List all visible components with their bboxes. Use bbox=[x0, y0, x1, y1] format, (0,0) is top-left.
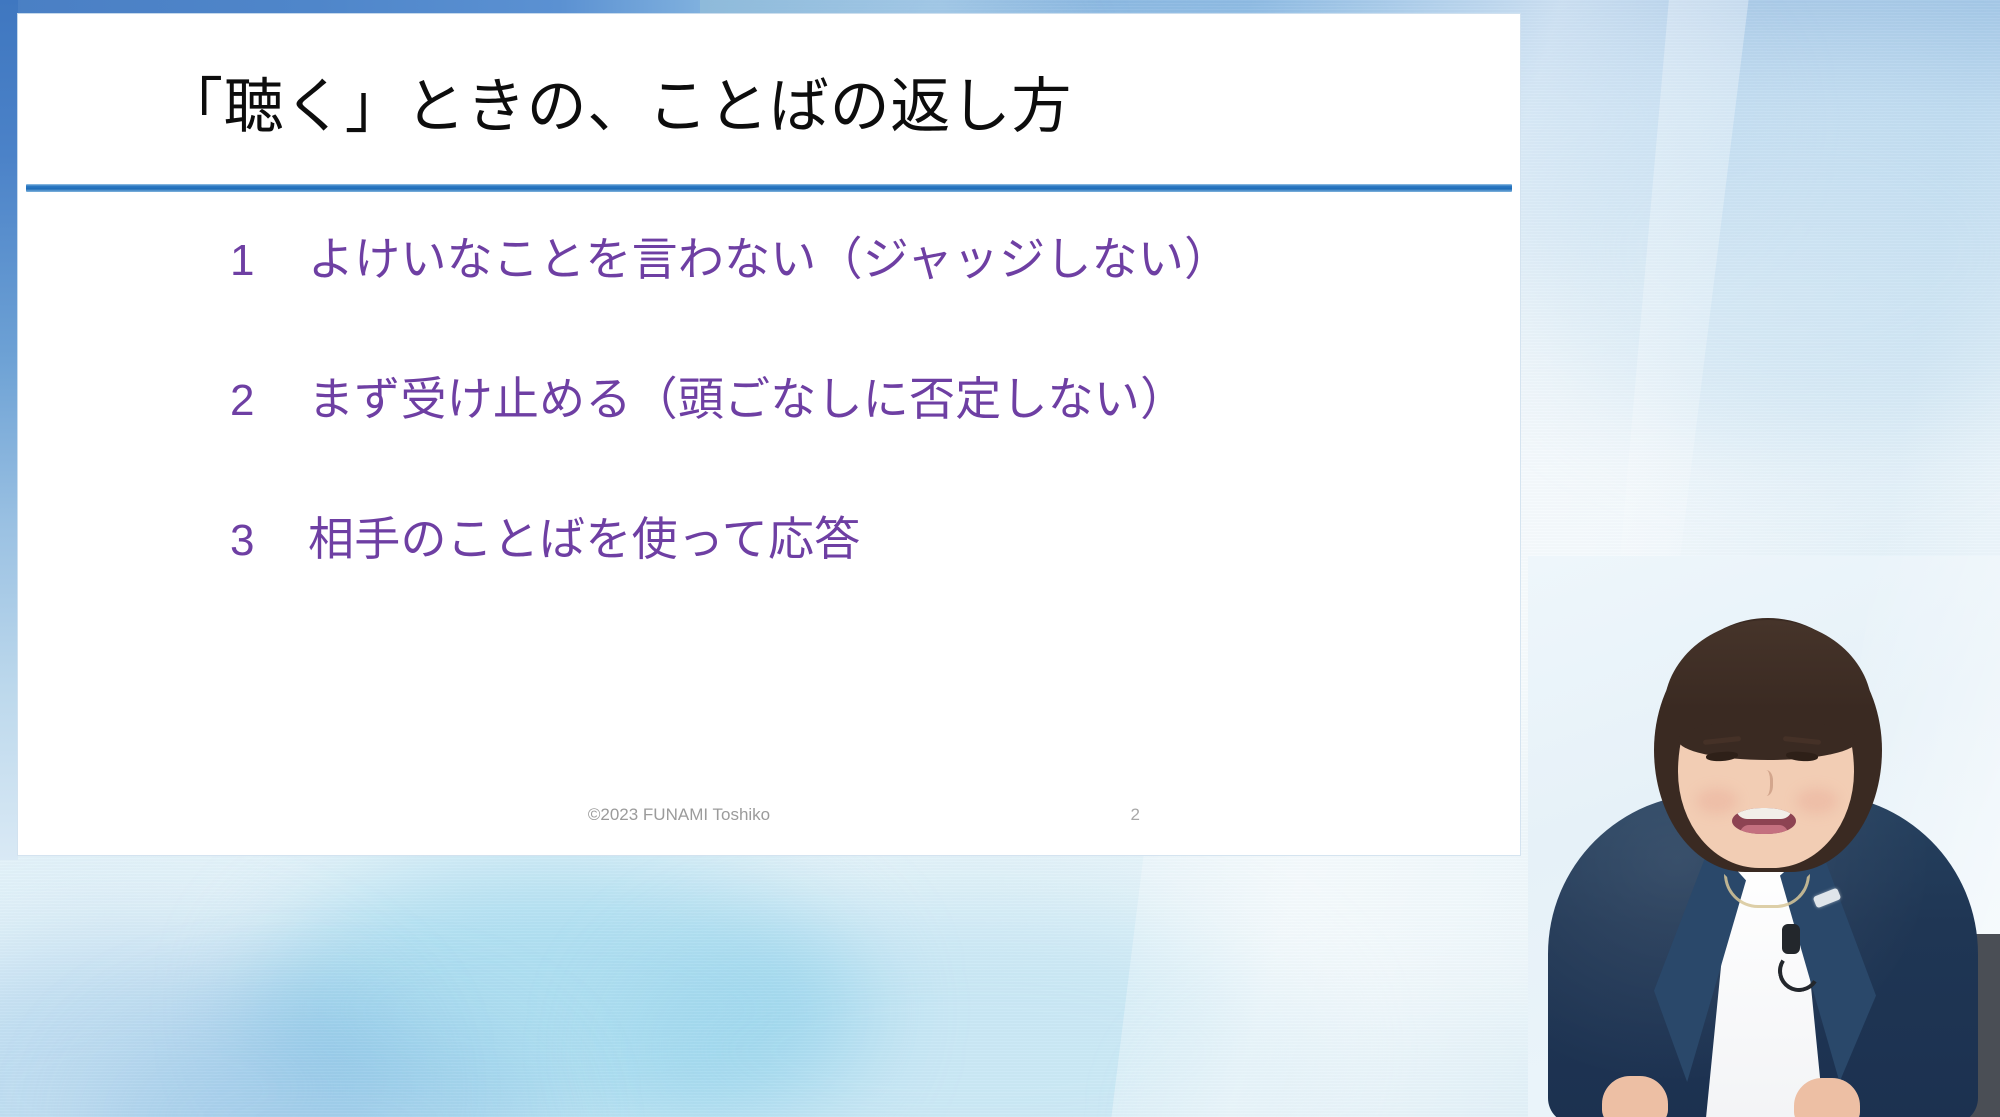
list-item-number: 1 bbox=[230, 239, 308, 283]
list-item: 2 まず受け止める（頭ごなしに否定しない） bbox=[18, 376, 1520, 516]
slide-theme-top-band-fade bbox=[700, 0, 1100, 14]
list-item-label: まず受け止める（頭ごなしに否定しない） bbox=[308, 376, 1186, 422]
slide-theme-left-band bbox=[0, 0, 18, 860]
list-item-number: 2 bbox=[230, 379, 308, 423]
list-item: 3 相手のことばを使って応答 bbox=[18, 516, 1520, 656]
copyright-notice: ©2023 FUNAMI Toshiko bbox=[588, 805, 770, 825]
backdrop-panel bbox=[1571, 0, 2000, 1117]
cloud-blob bbox=[620, 900, 1320, 1117]
cloud-blob bbox=[250, 860, 870, 1117]
bullet-list: 1 よけいなことを言わない（ジャッジしない） 2 まず受け止める（頭ごなしに否定… bbox=[18, 236, 1520, 656]
cloud-blob bbox=[1180, 1010, 1740, 1117]
page-number: 2 bbox=[1131, 805, 1140, 825]
list-item: 1 よけいなことを言わない（ジャッジしない） bbox=[18, 236, 1520, 376]
cloud-blob bbox=[90, 1010, 550, 1117]
list-item-label: 相手のことばを使って応答 bbox=[308, 516, 860, 562]
slide-footer: ©2023 FUNAMI Toshiko 2 bbox=[18, 805, 1520, 827]
cloud-blob bbox=[1520, 60, 2000, 440]
presentation-slide: 「聴く」ときの、ことばの返し方 1 よけいなことを言わない（ジャッジしない） 2… bbox=[18, 14, 1520, 855]
slide-title: 「聴く」ときの、ことばの返し方 bbox=[163, 72, 1072, 143]
slide-theme-top-band bbox=[0, 0, 700, 14]
title-underline-rule bbox=[26, 184, 1512, 192]
list-item-label: よけいなことを言わない（ジャッジしない） bbox=[308, 236, 1230, 282]
video-frame: 「聴く」ときの、ことばの返し方 1 よけいなことを言わない（ジャッジしない） 2… bbox=[0, 0, 2000, 1117]
cloud-blob bbox=[0, 940, 400, 1117]
list-item-number: 3 bbox=[230, 519, 308, 563]
